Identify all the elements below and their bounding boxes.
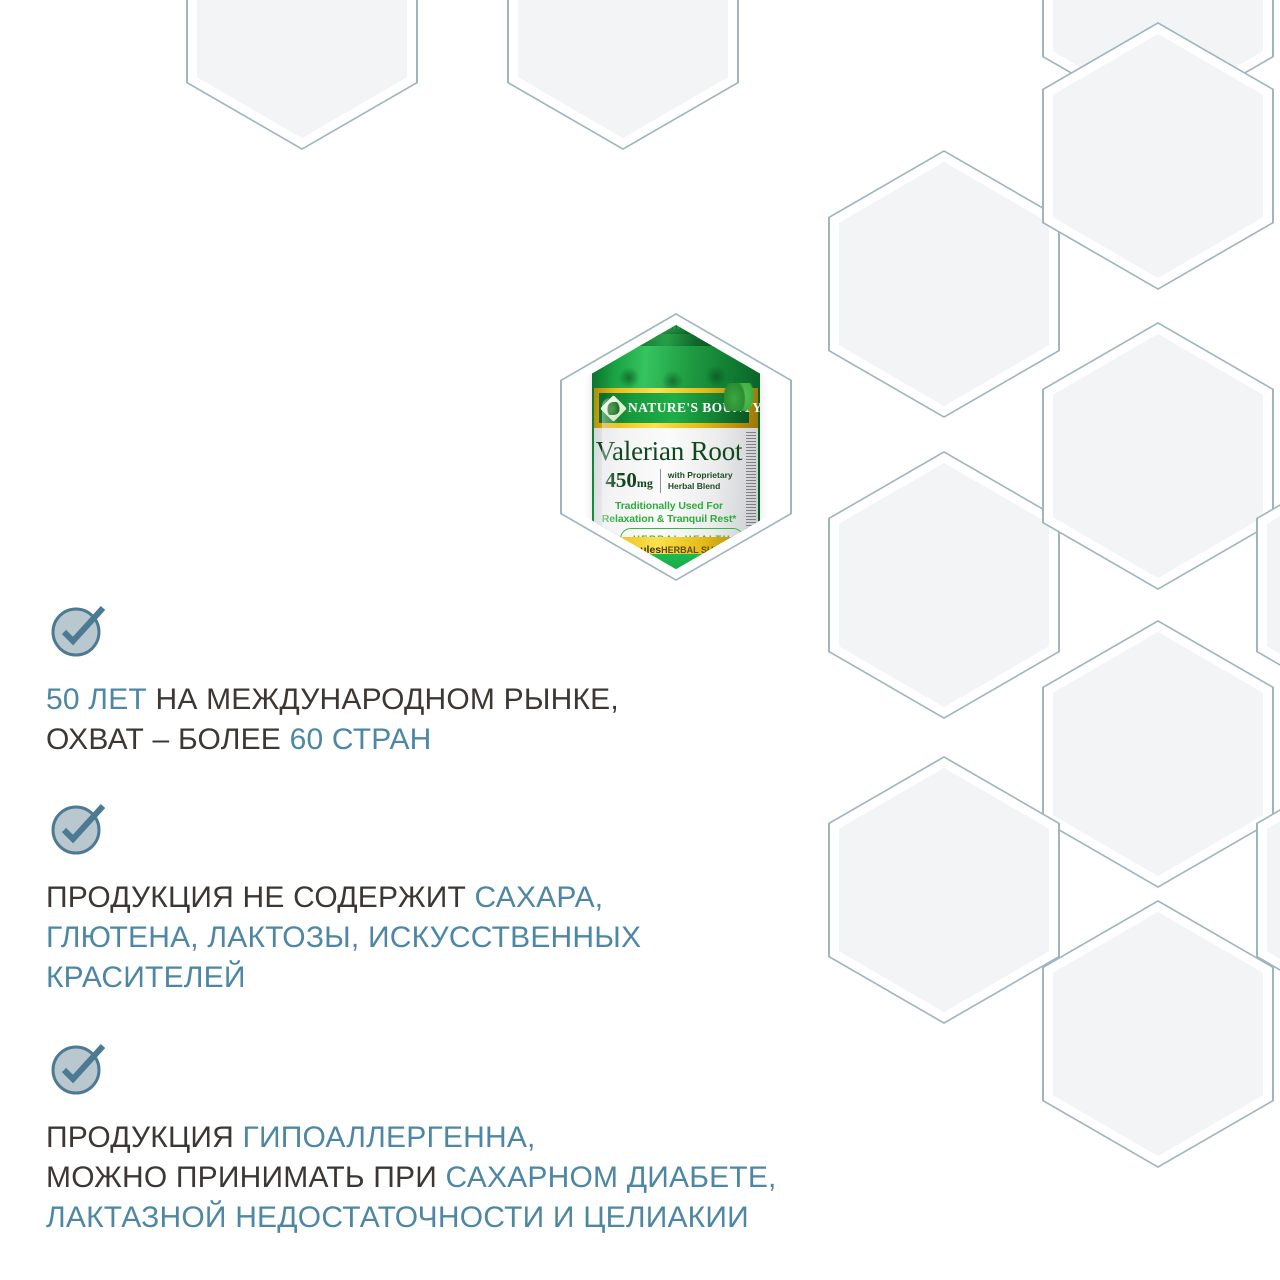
text-segment: ПРОДУКЦИЯ <box>46 1121 243 1154</box>
benefits-content: 50 ЛЕТ НА МЕЖДУНАРОДНОМ РЫНКЕ, ОХВАТ – Б… <box>0 0 1280 1280</box>
benefit-text-2: ПРОДУКЦИЯ НЕ СОДЕРЖИТ САХАРА, ГЛЮТЕНА, Л… <box>46 878 641 998</box>
benefit-item-1: 50 ЛЕТ НА МЕЖДУНАРОДНОМ РЫНКЕ, ОХВАТ – Б… <box>46 596 619 760</box>
check-circle-icon <box>46 596 112 662</box>
text-segment: 50 ЛЕТ <box>46 683 155 716</box>
benefit-item-2: ПРОДУКЦИЯ НЕ СОДЕРЖИТ САХАРА, ГЛЮТЕНА, Л… <box>46 794 641 998</box>
check-circle-icon <box>46 794 112 860</box>
benefit-item-3: ПРОДУКЦИЯ ГИПОАЛЛЕРГЕННА, МОЖНО ПРИНИМАТ… <box>46 1034 777 1238</box>
text-segment: ГИПОАЛЛЕРГЕННА, <box>243 1121 536 1154</box>
poster-canvas: NATURE'S BOUNTY Valerian Root 450mg with… <box>0 0 1280 1280</box>
text-segment: МОЖНО ПРИНИМАТЬ ПРИ <box>46 1161 446 1194</box>
benefit-text-3: ПРОДУКЦИЯ ГИПОАЛЛЕРГЕННА, МОЖНО ПРИНИМАТ… <box>46 1118 777 1238</box>
check-circle-icon <box>46 1034 112 1100</box>
benefit-text-1: 50 ЛЕТ НА МЕЖДУНАРОДНОМ РЫНКЕ, ОХВАТ – Б… <box>46 680 619 760</box>
text-segment: ПРОДУКЦИЯ НЕ СОДЕРЖИТ <box>46 881 475 914</box>
text-segment: 60 СТРАН <box>290 723 432 756</box>
